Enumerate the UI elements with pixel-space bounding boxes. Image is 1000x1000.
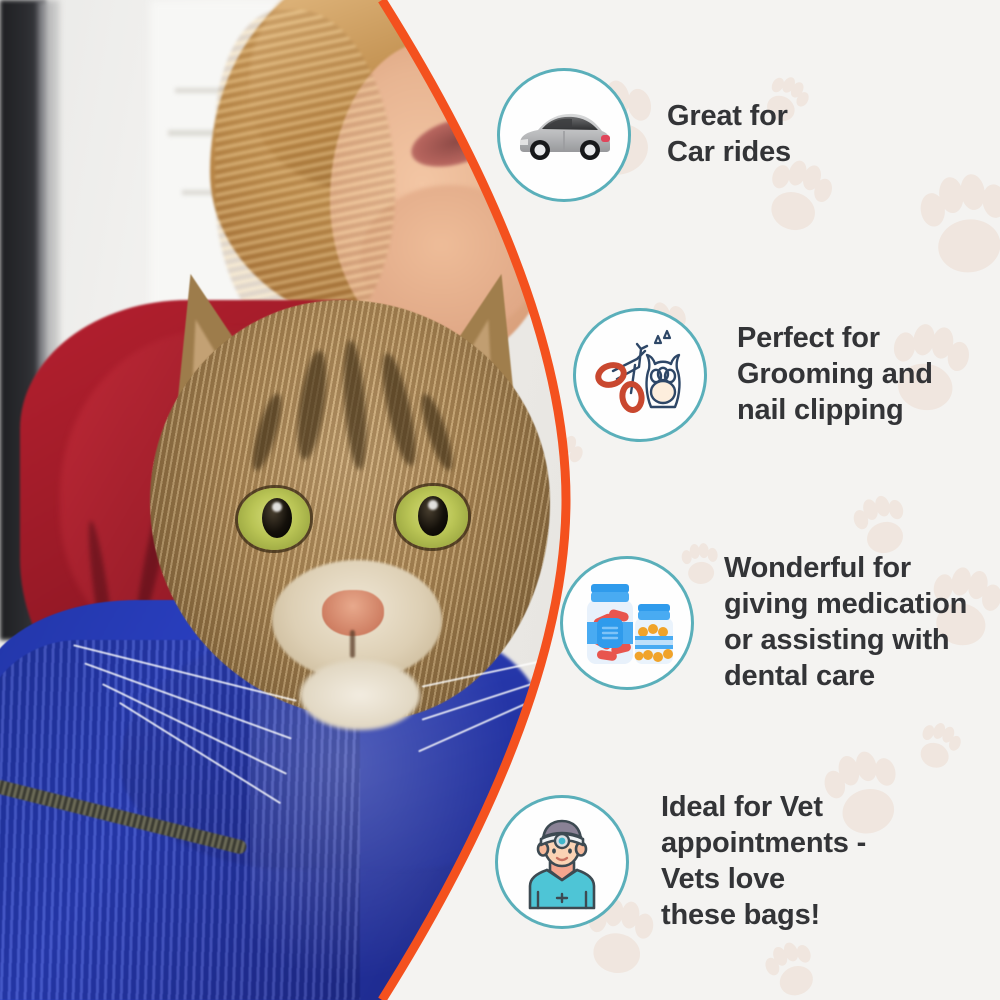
- feature-item-medication[interactable]: Wonderful for giving medication or assis…: [560, 551, 967, 695]
- feature-label: Perfect for Grooming and nail clipping: [737, 321, 933, 429]
- feature-icon-badge: [497, 68, 631, 202]
- feature-icon-badge: [573, 308, 707, 442]
- feature-label: Wonderful for giving medication or assis…: [724, 551, 967, 695]
- nail-clipper-paw-icon: [591, 329, 689, 421]
- feature-item-vet[interactable]: Ideal for Vet appointments - Vets love t…: [495, 790, 866, 934]
- veterinarian-icon: [516, 814, 608, 910]
- feature-label: Ideal for Vet appointments - Vets love t…: [661, 790, 866, 934]
- car-icon: [516, 104, 612, 166]
- feature-list: Great for Car rides: [0, 0, 1000, 1000]
- feature-icon-badge: [560, 556, 694, 690]
- pill-bottles-icon: [575, 576, 679, 670]
- feature-item-grooming[interactable]: Perfect for Grooming and nail clipping: [573, 308, 933, 442]
- product-feature-graphic: Great for Car rides: [0, 0, 1000, 1000]
- feature-label: Great for Car rides: [667, 99, 791, 171]
- feature-icon-badge: [495, 795, 629, 929]
- feature-item-car-rides[interactable]: Great for Car rides: [497, 68, 791, 202]
